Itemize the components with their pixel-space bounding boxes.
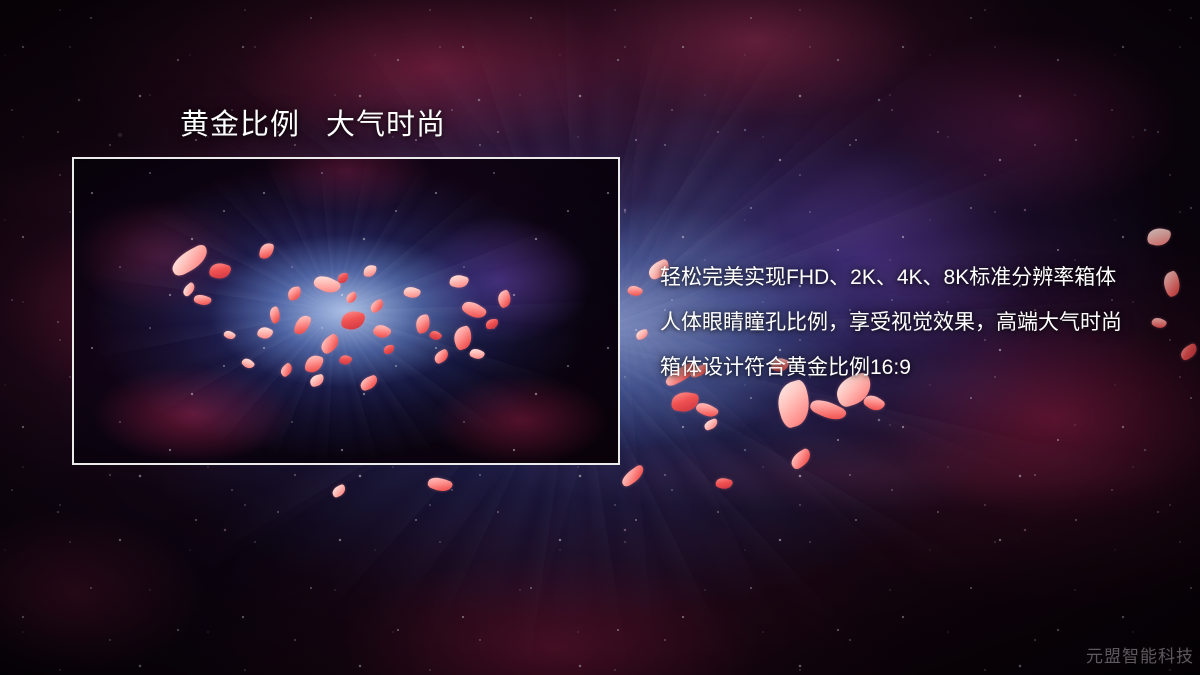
body-text-line-1: 轻松完美实现FHD、2K、4K、8K标准分辨率箱体 [660, 255, 1122, 300]
petal-20 [1150, 315, 1167, 331]
petal-10 [862, 391, 886, 414]
petal-4 [694, 399, 719, 420]
body-text-block: 轻松完美实现FHD、2K、4K、8K标准分辨率箱体 人体眼睛瞳孔比例，享受视觉效… [660, 255, 1122, 390]
petal-18 [1146, 226, 1172, 249]
panel-starfield-layer [74, 159, 618, 463]
page-title-segment-2: 大气时尚 [326, 109, 446, 141]
image-frame-panel [72, 157, 620, 465]
petal-13 [626, 283, 643, 298]
petal-15 [619, 464, 647, 488]
petal-17 [331, 484, 348, 499]
body-text-line-3: 箱体设计符合黄金比例16:9 [660, 345, 1122, 390]
petal-12 [715, 476, 734, 491]
petal-2 [670, 390, 699, 414]
page-title: 黄金比例大气时尚 [180, 101, 446, 143]
body-text-line-2: 人体眼睛瞳孔比例，享受视觉效果，高端大气时尚 [660, 300, 1122, 345]
company-watermark: 元盟智能科技 [1086, 642, 1194, 667]
petal-21 [1178, 342, 1200, 361]
petal-19 [1160, 270, 1183, 298]
petal-14 [635, 329, 649, 341]
petal-16 [427, 474, 454, 494]
petal-5 [703, 418, 719, 431]
petal-11 [788, 447, 814, 471]
presentation-slide: 黄金比例大气时尚 轻松完美实现FHD、2K、4K、8K标准分辨率箱体 人体眼睛瞳… [0, 0, 1200, 675]
page-title-segment-1: 黄金比例 [180, 109, 300, 141]
petal-8 [808, 395, 847, 425]
